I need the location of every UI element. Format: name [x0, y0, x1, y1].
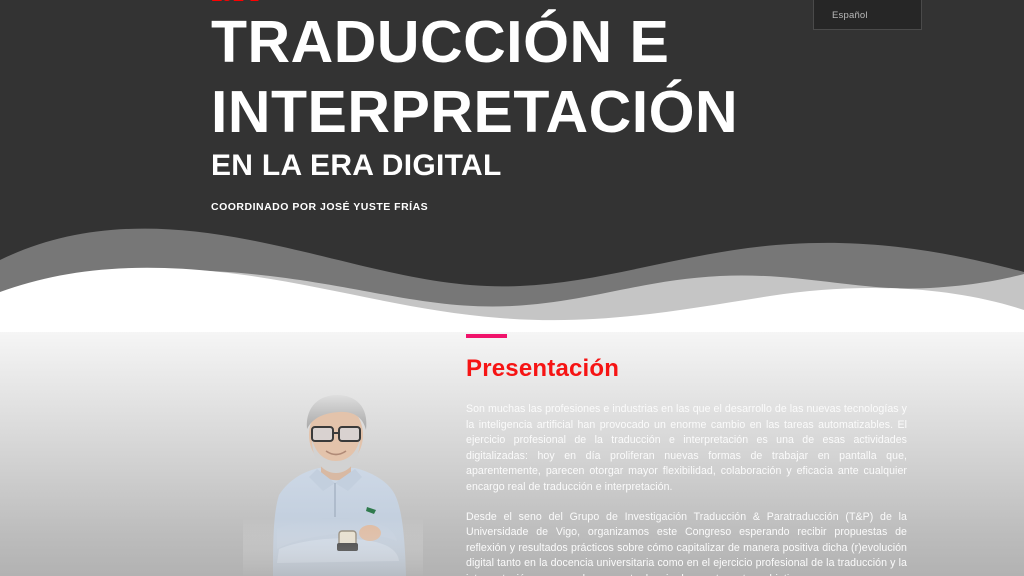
presentation-body: Son muchas las profesiones e industrias …: [466, 402, 907, 576]
presentation-paragraph-1: Son muchas las profesiones e industrias …: [466, 402, 907, 496]
presentation-block: Presentación Son muchas las profesiones …: [466, 334, 926, 576]
presentation-title: Presentación: [466, 355, 926, 383]
page-title-line2: INTERPRETACIÓN: [211, 78, 1001, 146]
language-dropdown-panel[interactable]: Español: [813, 0, 922, 30]
wave-divider-svg: [0, 214, 1024, 332]
page-root: EJE 1 TRADUCCIÓN E INTERPRETACIÓN EN LA …: [0, 0, 1024, 576]
coordinator-portrait: [243, 383, 423, 576]
wave-divider: [0, 214, 1024, 332]
page-subtitle: EN LA ERA DIGITAL: [211, 148, 1001, 184]
portrait-illustration: [243, 383, 423, 576]
presentation-paragraph-2: Desde el seno del Grupo de Investigación…: [466, 510, 907, 576]
coordinator-credit: COORDINADO POR JOSÉ YUSTE FRÍAS: [211, 200, 1001, 214]
language-option-espanol[interactable]: Español: [832, 10, 868, 21]
accent-bar: [466, 334, 507, 338]
